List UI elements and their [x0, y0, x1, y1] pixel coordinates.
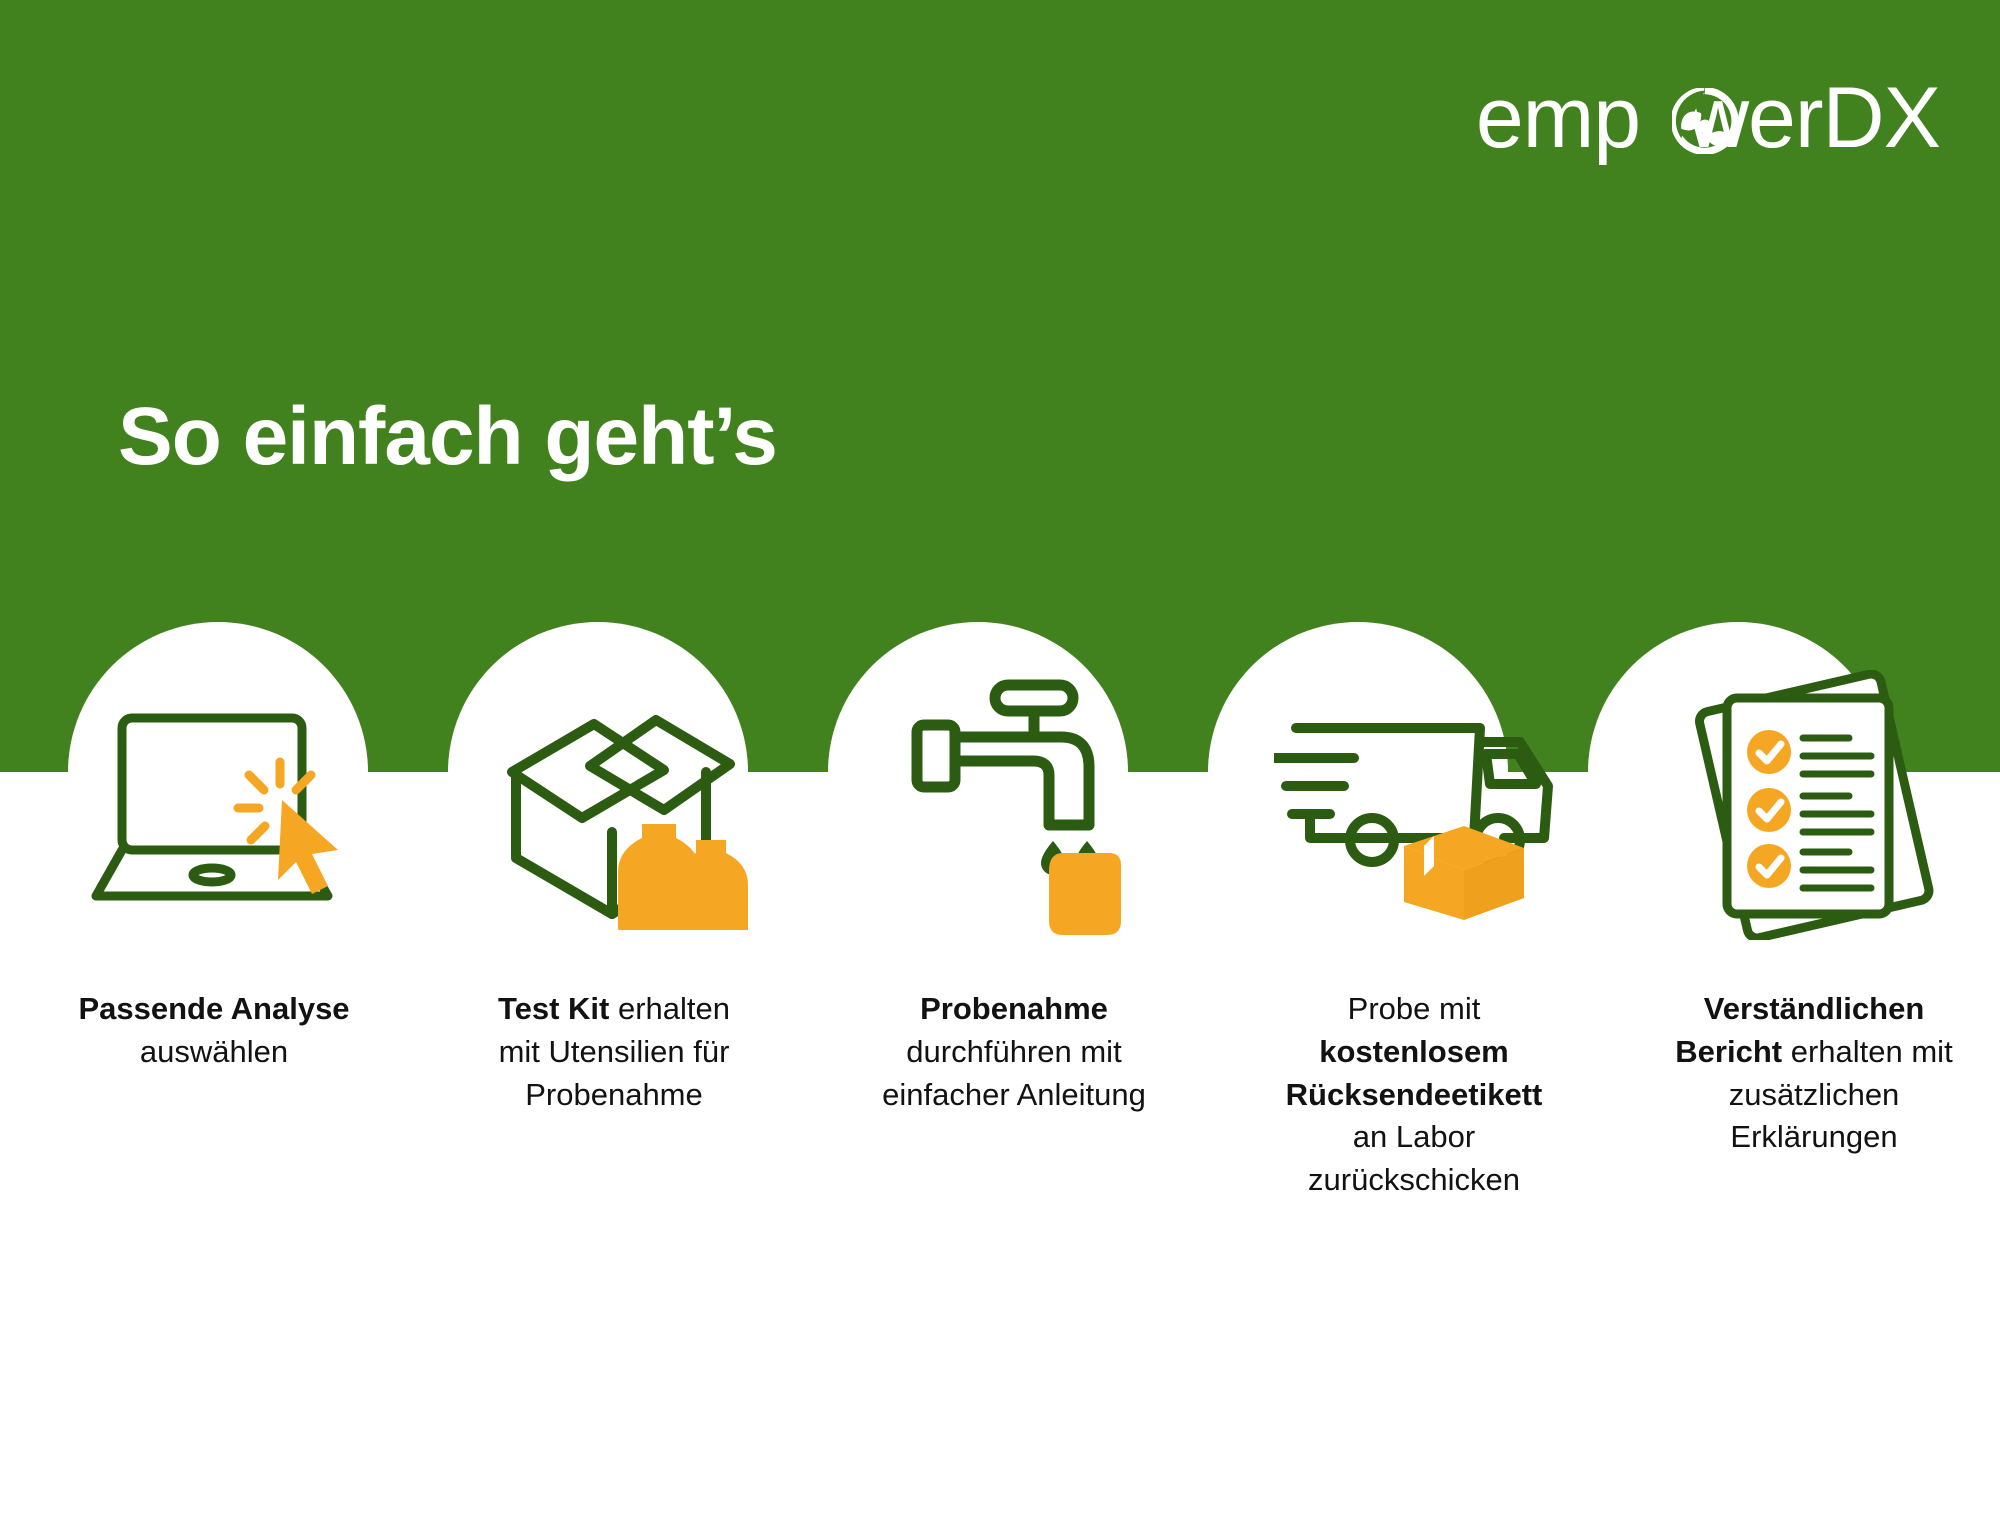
- step-3-icon: [864, 640, 1164, 970]
- page-title: So einfach geht’s: [118, 390, 777, 484]
- step-3: Probenahme durchführen mit einfacher Anl…: [828, 640, 1200, 1202]
- step-5: Verständlichen Bericht erhalten mit zusä…: [1628, 640, 2000, 1202]
- infographic-canvas: empowerDX So einfach geht’s: [0, 0, 2000, 1521]
- step-2-plain-0: erhalten: [609, 991, 730, 1026]
- brand-logo: empowerDX: [1476, 72, 1940, 164]
- step-1: Passende Analyse auswählen: [28, 640, 400, 1202]
- step-1-bold: Passende Analyse: [78, 991, 349, 1026]
- delivery-truck-parcel-icon: [1274, 690, 1554, 920]
- step-4-bold-1: kostenlosem: [1319, 1034, 1509, 1069]
- step-3-caption: Probenahme durchführen mit einfacher Anl…: [849, 988, 1179, 1116]
- step-5-bold-0: Verständlichen: [1704, 991, 1925, 1026]
- step-5-plain-2: zusätzlichen: [1729, 1077, 1900, 1112]
- step-4-caption: Probe mit kostenlosem Rücksendeetikett a…: [1249, 988, 1579, 1202]
- step-1-plain: auswählen: [140, 1034, 288, 1069]
- step-2-icon: [464, 640, 764, 970]
- step-2-plain-1: mit Utensilien für: [499, 1034, 730, 1069]
- step-2-bold: Test Kit: [498, 991, 609, 1026]
- step-4-plain-0: Probe mit: [1348, 991, 1481, 1026]
- steps-row: Passende Analyse auswählen: [0, 640, 2000, 1202]
- open-box-bottles-icon: [474, 680, 754, 930]
- step-3-plain-1: durchführen mit: [906, 1034, 1121, 1069]
- step-2-caption: Test Kit erhalten mit Utensilien für Pro…: [449, 988, 779, 1116]
- step-5-caption: Verständlichen Bericht erhalten mit zusä…: [1649, 988, 1979, 1159]
- step-4-plain-3: an Labor: [1353, 1119, 1475, 1154]
- step-2: Test Kit erhalten mit Utensilien für Pro…: [428, 640, 800, 1202]
- step-3-bold: Probenahme: [920, 991, 1108, 1026]
- leaf-circle-icon: [1672, 88, 1738, 154]
- faucet-sample-bottle-icon: [899, 675, 1129, 935]
- brand-logo-dx: DX: [1823, 70, 1940, 166]
- brand-logo-emp: emp: [1476, 70, 1640, 166]
- step-4-bold-2: Rücksendeetikett: [1286, 1077, 1543, 1112]
- step-1-caption: Passende Analyse auswählen: [49, 988, 379, 1074]
- step-5-icon: [1664, 640, 1964, 970]
- step-2-plain-2: Probenahme: [525, 1077, 703, 1112]
- step-5-bold-1: Bericht: [1675, 1034, 1782, 1069]
- step-5-plain-1: erhalten mit: [1782, 1034, 1953, 1069]
- step-4-icon: [1264, 640, 1564, 970]
- step-5-plain-3: Erklärungen: [1730, 1119, 1897, 1154]
- laptop-cursor-click-icon: [84, 700, 344, 910]
- step-4: Probe mit kostenlosem Rücksendeetikett a…: [1228, 640, 1600, 1202]
- step-3-plain-2: einfacher Anleitung: [882, 1077, 1146, 1112]
- checklist-report-icon: [1689, 670, 1939, 940]
- step-4-plain-4: zurückschicken: [1308, 1162, 1520, 1197]
- step-1-icon: [64, 640, 364, 970]
